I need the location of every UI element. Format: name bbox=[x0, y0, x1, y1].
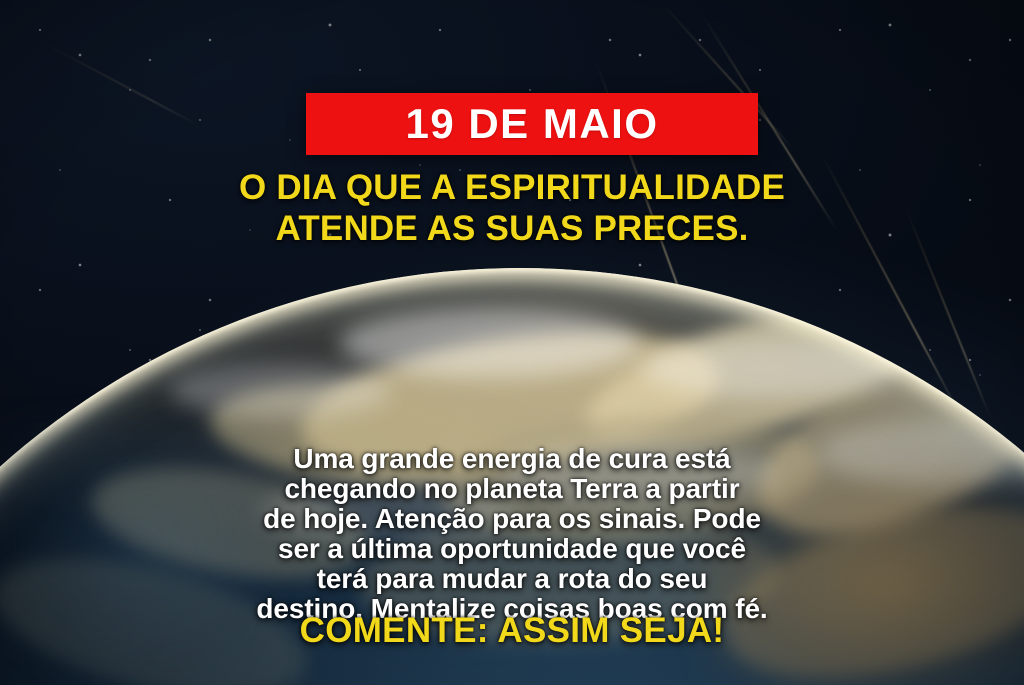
date-banner: 19 DE MAIO bbox=[306, 93, 758, 155]
body-line-1: Uma grande energia de cura está bbox=[0, 444, 1024, 474]
poster-content: 19 DE MAIO O DIA QUE A ESPIRITUALIDADE A… bbox=[0, 0, 1024, 685]
body-line-5: terá para mudar a rota do seu bbox=[0, 564, 1024, 594]
body-line-4: ser a última oportunidade que você bbox=[0, 534, 1024, 564]
poster-canvas: 19 DE MAIO O DIA QUE A ESPIRITUALIDADE A… bbox=[0, 0, 1024, 685]
body-copy: Uma grande energia de cura está chegando… bbox=[0, 444, 1024, 624]
headline: O DIA QUE A ESPIRITUALIDADE ATENDE AS SU… bbox=[0, 168, 1024, 249]
body-line-3: de hoje. Atenção para os sinais. Pode bbox=[0, 504, 1024, 534]
headline-line-2: ATENDE AS SUAS PRECES. bbox=[0, 209, 1024, 250]
date-banner-text: 19 DE MAIO bbox=[405, 103, 658, 145]
headline-line-1: O DIA QUE A ESPIRITUALIDADE bbox=[0, 168, 1024, 209]
body-line-2: chegando no planeta Terra a partir bbox=[0, 474, 1024, 504]
call-to-action-text: COMENTE: ASSIM SEJA! bbox=[0, 612, 1024, 651]
